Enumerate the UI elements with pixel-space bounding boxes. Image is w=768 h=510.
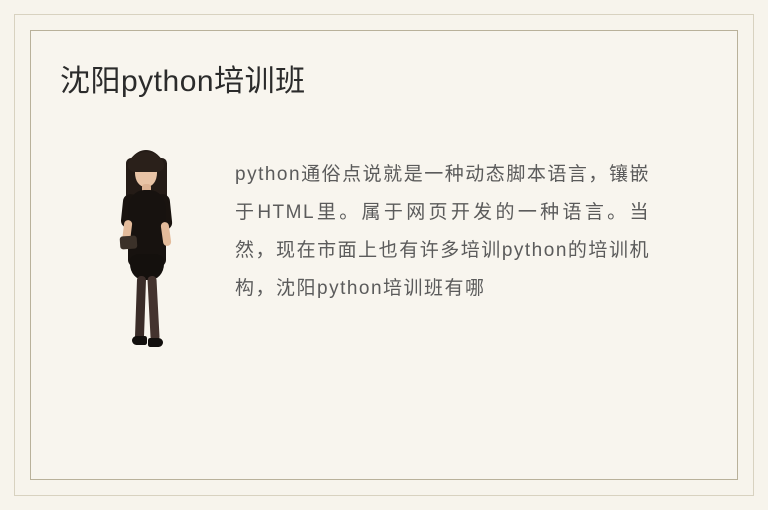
shoe-left-shape bbox=[132, 336, 147, 345]
leg-right-shape bbox=[147, 276, 159, 340]
hair-front-shape bbox=[128, 152, 164, 172]
article-card: 沈阳python培训班 python通俗点说就是一种动态脚本语言，镶嵌于HTML… bbox=[0, 0, 768, 510]
article-content: python通俗点说就是一种动态脚本语言，镶嵌于HTML里。属于网页开发的一种语… bbox=[60, 140, 708, 400]
shoe-right-shape bbox=[148, 338, 163, 347]
page-title: 沈阳python培训班 bbox=[60, 62, 306, 102]
hips-shape bbox=[130, 254, 164, 280]
woman-photo bbox=[96, 150, 200, 375]
article-body: python通俗点说就是一种动态脚本语言，镶嵌于HTML里。属于网页开发的一种语… bbox=[235, 156, 650, 308]
leg-left-shape bbox=[135, 276, 146, 340]
handbag-shape bbox=[120, 235, 138, 249]
